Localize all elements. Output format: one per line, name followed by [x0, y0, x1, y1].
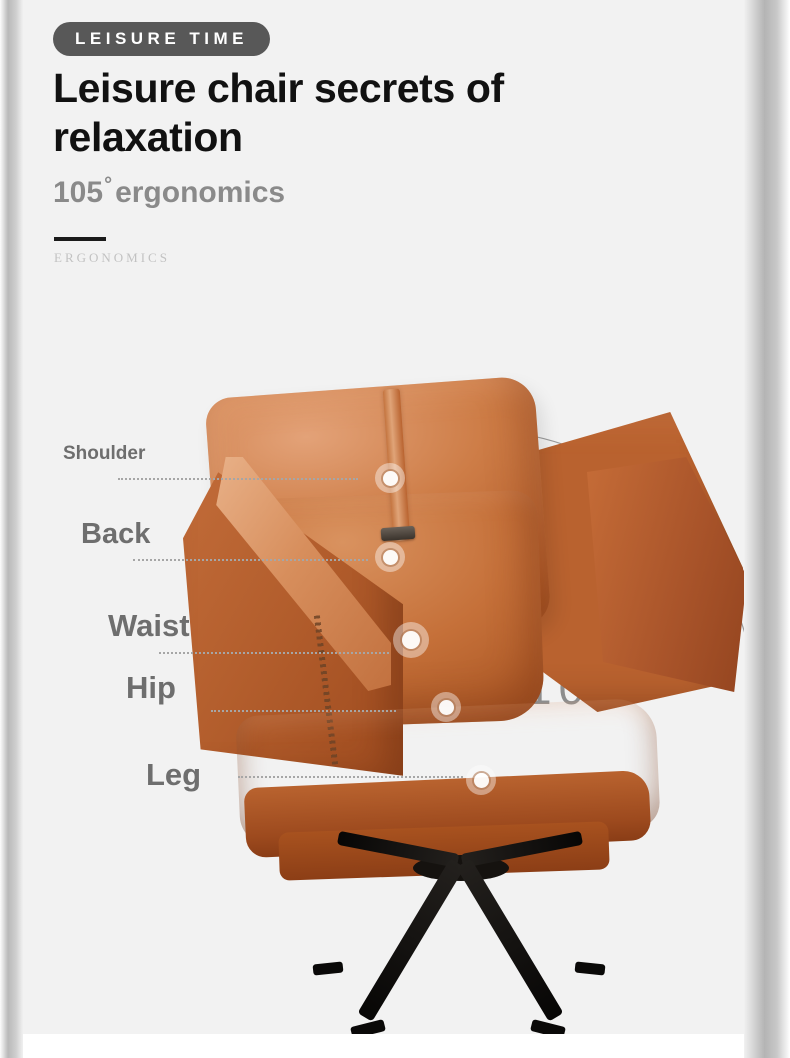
marker-point-shoulder [375, 463, 405, 493]
leader-line-leg [238, 776, 463, 778]
frame-shadow-right [744, 0, 790, 1058]
chair-foot-front-right [530, 1019, 566, 1034]
page-subtitle: 105°ergonomics [53, 174, 285, 210]
marker-point-hip [431, 692, 461, 722]
chair-foot-back-left [313, 961, 344, 975]
chair-base-leg-front-right [358, 859, 465, 1022]
callout-label-back: Back [81, 520, 150, 549]
ergonomics-diagram: 105° [23, 262, 744, 1034]
leisure-time-badge: LEISURE TIME [53, 22, 270, 56]
frame-shadow-left [0, 0, 23, 1058]
leader-line-back [133, 559, 368, 561]
subtitle-ergonomics-text: ergonomics [115, 176, 285, 209]
callout-label-waist: Waist [108, 610, 190, 641]
callout-label-hip: Hip [126, 672, 176, 703]
subtitle-angle-value: 105 [53, 176, 103, 209]
callout-label-shoulder: Shoulder [63, 444, 145, 463]
leader-line-shoulder [118, 478, 358, 480]
chair-base-leg-front-left [456, 859, 563, 1022]
marker-point-leg [466, 765, 496, 795]
marker-point-back [375, 542, 405, 572]
leader-line-hip [211, 710, 396, 712]
chair-foot-front-left [350, 1019, 386, 1034]
callout-label-leg: Leg [146, 759, 201, 790]
page-title: Leisure chair secrets of relaxation [53, 64, 613, 162]
leader-line-waist [159, 652, 389, 654]
chair-strap-buckle [381, 526, 416, 541]
marker-point-waist [393, 622, 429, 658]
title-divider [54, 237, 106, 241]
screenshot-page: LEISURE TIME Leisure chair secrets of re… [0, 0, 790, 1058]
chair-foot-back-right [575, 961, 606, 975]
subtitle-degree-symbol: ° [104, 174, 112, 196]
content-panel: LEISURE TIME Leisure chair secrets of re… [23, 0, 744, 1034]
